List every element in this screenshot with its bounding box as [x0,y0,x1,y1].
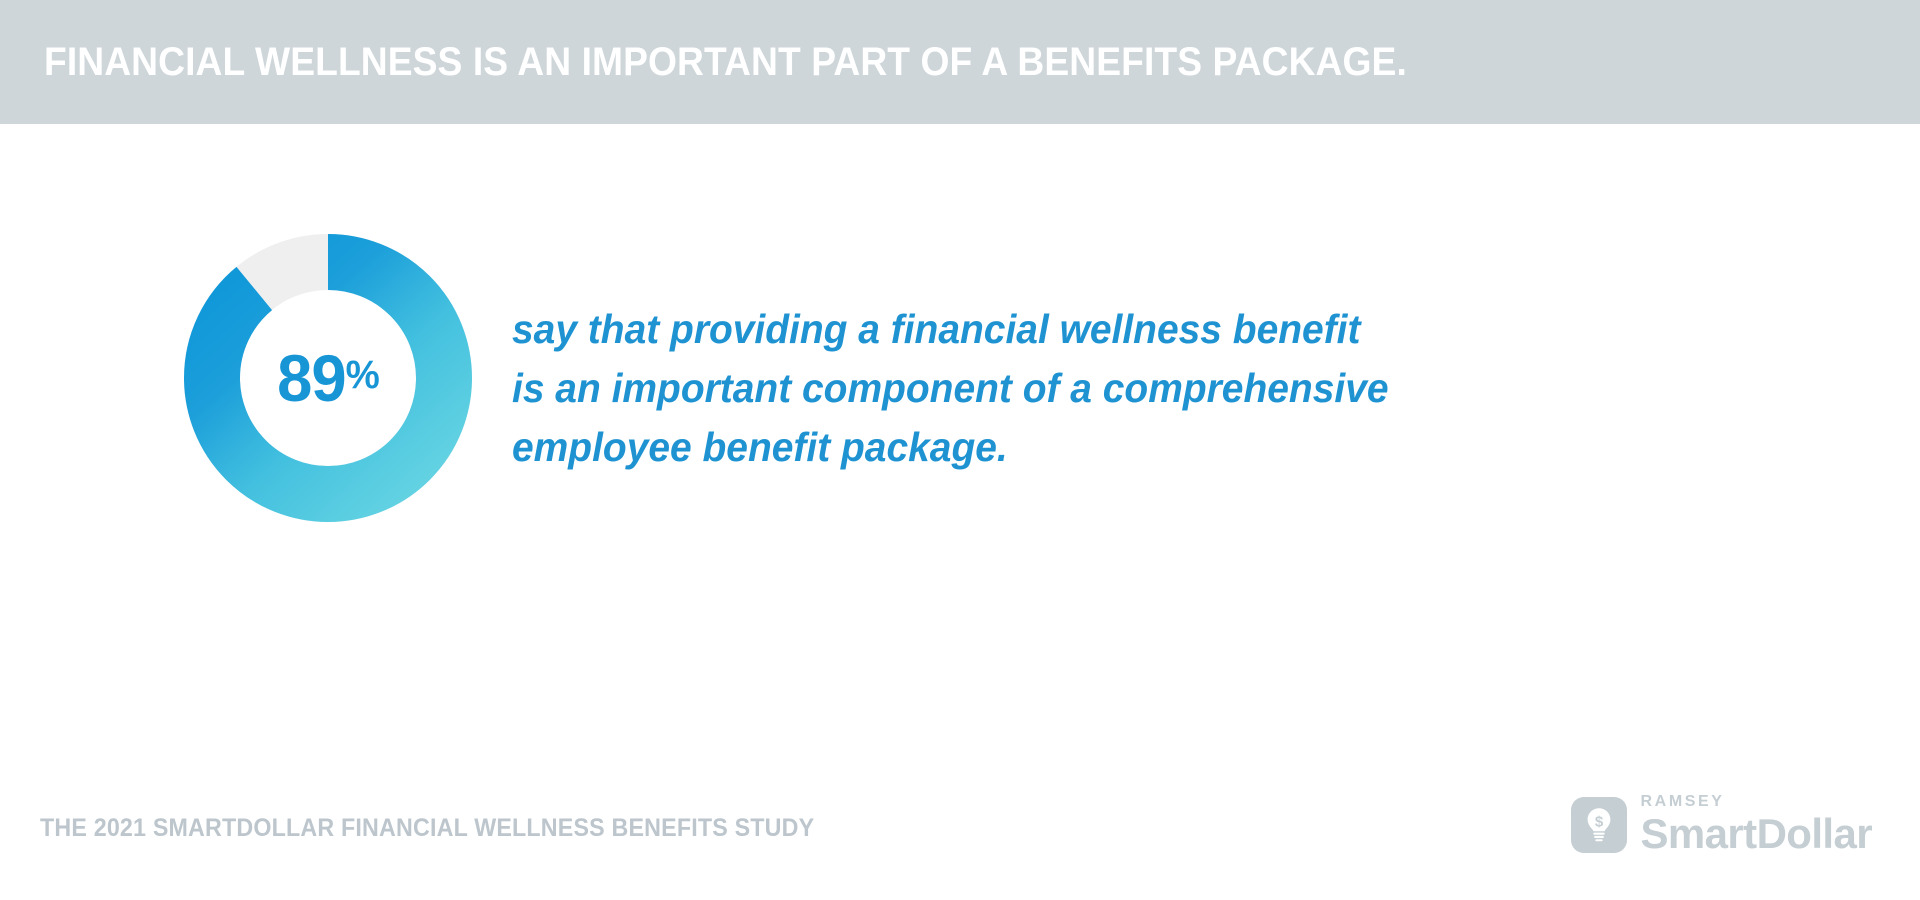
callout-line-3: employee benefit package. [512,418,1396,477]
header-bar: FINANCIAL WELLNESS IS AN IMPORTANT PART … [0,0,1920,124]
main-content: 89% say that providing a financial welln… [0,124,1920,764]
smartdollar-logo: $ RAMSEY SmartDollar [1571,794,1872,855]
svg-text:$: $ [1594,813,1603,830]
logo-wordmark: RAMSEY SmartDollar [1641,794,1872,855]
donut-value-segment [212,262,444,494]
logo-brand-top: RAMSEY [1641,794,1872,810]
lightbulb-dollar-glyph: $ [1582,806,1616,844]
lightbulb-dollar-icon: $ [1571,797,1627,853]
donut-chart: 89% [184,234,472,522]
callout-line-1: say that providing a financial wellness … [512,300,1396,359]
logo-brand-main: SmartDollar [1641,813,1872,855]
page-title: FINANCIAL WELLNESS IS AN IMPORTANT PART … [44,42,1407,82]
donut-chart-svg [184,234,472,522]
callout-line-2: is an important component of a comprehen… [512,359,1396,418]
study-source-label: THE 2021 SMARTDOLLAR FINANCIAL WELLNESS … [40,814,814,843]
callout-text: say that providing a financial wellness … [512,300,1442,477]
infographic-slide: FINANCIAL WELLNESS IS AN IMPORTANT PART … [0,0,1920,900]
footer: THE 2021 SMARTDOLLAR FINANCIAL WELLNESS … [0,764,1920,900]
